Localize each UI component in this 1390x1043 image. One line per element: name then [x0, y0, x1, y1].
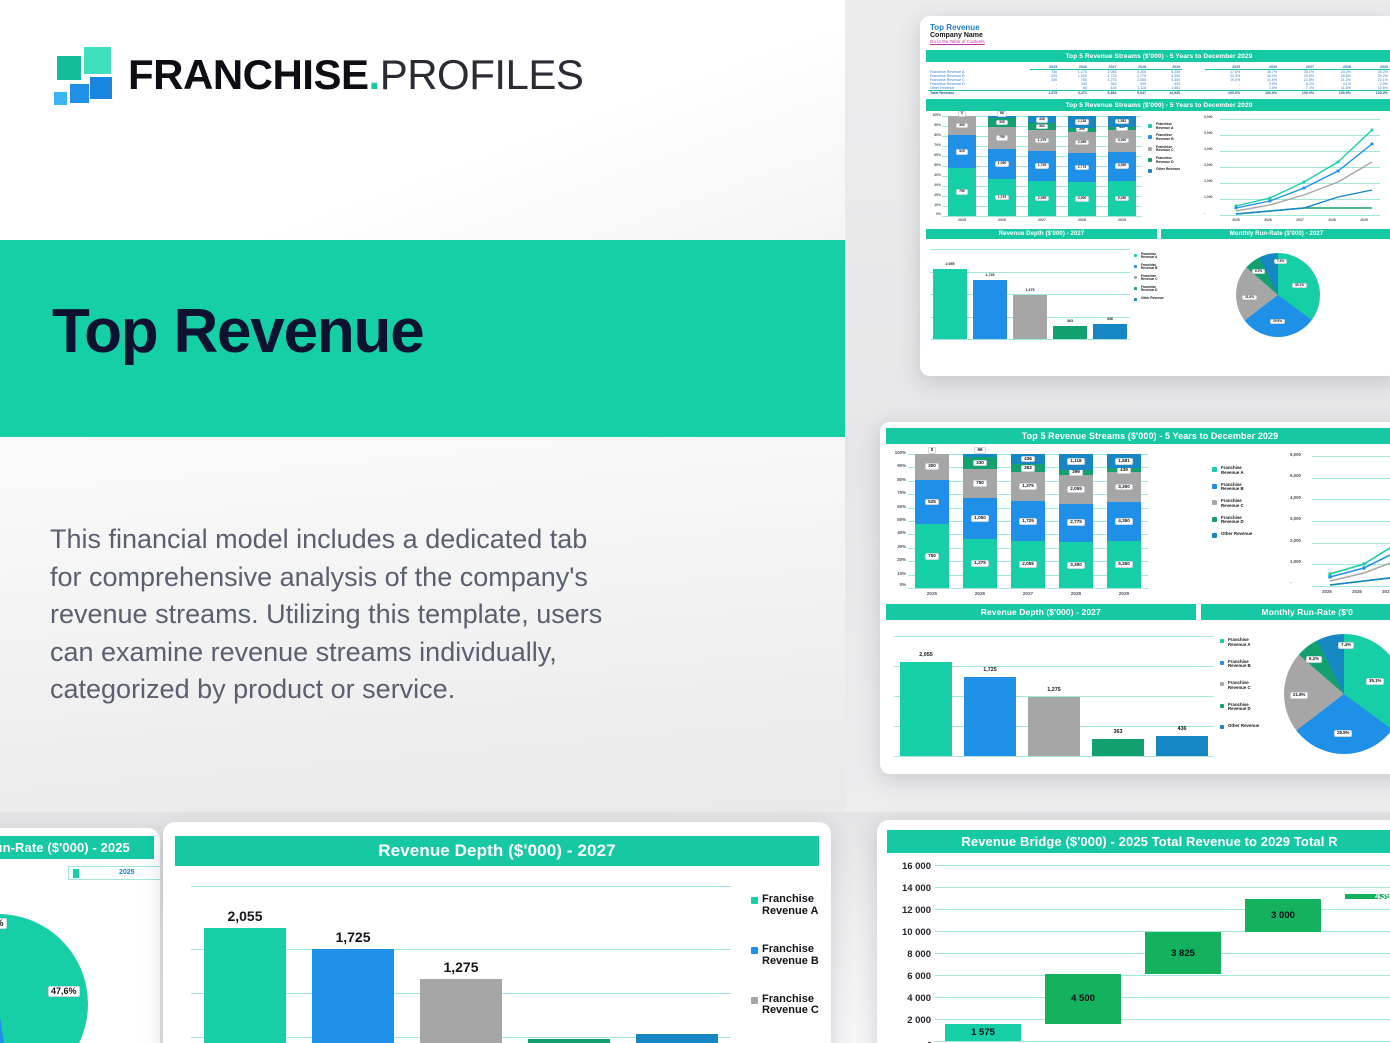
revenue-bridge-chart-body: 16 000 14 000 12 000 10 000 8 000 6 000 …	[877, 853, 1390, 1043]
revenue-depth-bar-chart: 2,055 1,725 1,275 363 436	[930, 249, 1130, 339]
runrate-2025-card: y Run-Rate ($'000) - 2025 2025 47,6% 3,3…	[0, 828, 160, 1043]
year-chip: 2025	[68, 866, 160, 880]
revenue-depth-title: Revenue Depth ($'000) - 2027	[175, 836, 819, 866]
table-title-banner: Top 5 Revenue Streams ($'000) - 5 Years …	[926, 50, 1390, 62]
waterfall-bar-total-2025: 1 575	[945, 1024, 1021, 1041]
runrate-pie-chart-2: 35.1% 29.5% 21.8% 6.2% 7.4%	[1284, 634, 1390, 754]
toc-link[interactable]: Go to the Table of Contents	[930, 39, 1390, 44]
brand-logo: FRANCHISE.PROFILES	[48, 44, 583, 106]
chart-banner-row-2: Revenue Depth ($'000) - 2027 Monthly Run…	[880, 604, 1390, 620]
slide-canvas: FRANCHISE.PROFILES Top Revenue This fina…	[0, 0, 1390, 1043]
revenue-bridge-title: Revenue Bridge ($'000) - 2025 Total Reve…	[887, 830, 1390, 853]
bar-revenue-d	[528, 1039, 610, 1043]
description-text: This financial model includes a dedicate…	[50, 521, 610, 709]
stacked-chart-x-axis: 20252026202720282029	[942, 218, 1142, 222]
stacked-bar-chart-2: 750 525 300 0 1,275 1,050 750 330 66 2,0…	[908, 454, 1148, 588]
stacked-chart-title-banner-2: Top 5 Revenue Streams ($'000) - 5 Years …	[886, 428, 1390, 444]
dashboard-screenshot-top: Top Revenue Company Name Go to the Table…	[920, 16, 1390, 376]
depth-title-banner-2: Revenue Depth ($'000) - 2027	[886, 604, 1196, 620]
revenue-depth-bar-chart-3: 2,055 1,725 1,275	[191, 886, 731, 1043]
page-title: Top Revenue	[52, 301, 424, 363]
bridge-y-axis: 16 000 14 000 12 000 10 000 8 000 6 000 …	[883, 861, 935, 1043]
bar-revenue-b: 1,725	[312, 949, 394, 1043]
revenue-depth-chart-body: 2,055 1,725 1,275 FranchiseRevenue A Fra…	[163, 866, 831, 1043]
waterfall-bar-revenue-a: 4 500	[1045, 974, 1121, 1024]
revenue-table: 202520262027 20282029 202520262027 20282…	[920, 62, 1390, 95]
stacked-chart-2-legend: FranchiseRevenue A FranchiseRevenue B Fr…	[1212, 466, 1264, 542]
bar-revenue-c: 1,275	[420, 979, 502, 1043]
logo-squares-icon	[48, 44, 114, 106]
chart-row-top: 750 525 300 0 1,275 1,050 750 330 66 2,0…	[920, 111, 1390, 229]
chart-banner-row: Revenue Depth ($'000) - 2027 Monthly Run…	[920, 229, 1390, 239]
waterfall-bar-revenue-b: 3 825	[1145, 932, 1221, 974]
revenue-depth-legend: FranchiseRevenue A FranchiseRevenue B Fr…	[751, 894, 827, 1043]
runrate-2025-title: y Run-Rate ($'000) - 2025	[0, 836, 154, 859]
chart-row-mid: 750 525 300 0 1,275 1,050 750 330 66 2,0…	[880, 444, 1390, 604]
waterfall-bar-revenue-c: 3 000	[1245, 899, 1321, 932]
percent-axis: 100% 90% 80% 70% 60% 50% 40% 30% 20% 10%…	[922, 113, 942, 217]
brand-name-light: PROFILES	[380, 51, 584, 98]
brand-name-dot: .	[369, 51, 380, 98]
background-panel-left	[0, 0, 845, 240]
sheet-header: Top Revenue Company Name Go to the Table…	[920, 16, 1390, 48]
stacked-bar-chart: 750 525 300 0 1,275 1,050 750 330 66 2,0…	[942, 116, 1142, 216]
waterfall-chart: 1 575 4 500 3 825 3 000 439	[935, 865, 1390, 1041]
runrate-title-banner: Monthly Run-Rate ($'000) - 2027	[1161, 229, 1390, 239]
chart-row-mid-bottom: 2,055 1,725 1,275 363 436 FranchiseReven…	[880, 620, 1390, 770]
depth-chart-2-legend: FranchiseRevenue A FranchiseRevenue B Fr…	[1220, 638, 1272, 733]
line-chart-runrate-2: 6,000 5,000 4,000 3,000 2,000 1,000 - 20…	[1312, 456, 1390, 586]
chart-row-bottom: 2,055 1,725 1,275 363 436 FranchiseReven…	[920, 239, 1390, 347]
brand-name-bold: FRANCHISE	[128, 51, 369, 98]
depth-chart-legend: FranchiseRevenue A FranchiseRevenue B Fr…	[1134, 253, 1174, 305]
sheet-company: Company Name	[930, 32, 1390, 39]
runrate-pie-chart: 35.1% 29.5% 21.8% 6.2% 7.4%	[1236, 253, 1320, 337]
stacked-chart-2-x-axis: 20252026202720282029	[908, 591, 1148, 596]
waterfall-bar-revenue-d: 439	[1345, 894, 1390, 899]
revenue-depth-card: Revenue Depth ($'000) - 2027 2,055 1,725…	[163, 822, 831, 1043]
percent-axis-2: 100% 90% 80% 70% 60% 50% 40% 30% 20% 10%…	[882, 450, 908, 590]
runrate-title-banner-2: Monthly Run-Rate ($'0	[1201, 604, 1390, 620]
bar-other-revenue	[636, 1034, 718, 1043]
table-total-row: Total Revenue1,5753,4715,8549,64714,9201…	[928, 91, 1390, 96]
revenue-bridge-card: Revenue Bridge ($'000) - 2025 Total Reve…	[877, 820, 1390, 1043]
bar-revenue-a: 2,055	[204, 928, 286, 1043]
brand-wordmark: FRANCHISE.PROFILES	[128, 54, 583, 96]
line-chart-runrate: 6,000 5,000 4,000 3,000 2,000 1,000 - 20…	[1220, 119, 1380, 215]
depth-title-banner: Revenue Depth ($'000) - 2027	[926, 229, 1157, 239]
stacked-chart-legend: FranchiseRevenue A FranchiseRevenue B Fr…	[1148, 123, 1190, 177]
dashboard-screenshot-mid: Top 5 Revenue Streams ($'000) - 5 Years …	[880, 422, 1390, 774]
runrate-2025-pie-chart: 47,6% 3,3% 19,0% 0,0% 0,0%	[0, 914, 88, 1043]
sheet-title: Top Revenue	[930, 23, 1390, 32]
stacked-chart-title-banner: Top 5 Revenue Streams ($'000) - 5 Years …	[926, 99, 1390, 111]
revenue-depth-bar-chart-2: 2,055 1,725 1,275 363 436	[894, 636, 1214, 756]
